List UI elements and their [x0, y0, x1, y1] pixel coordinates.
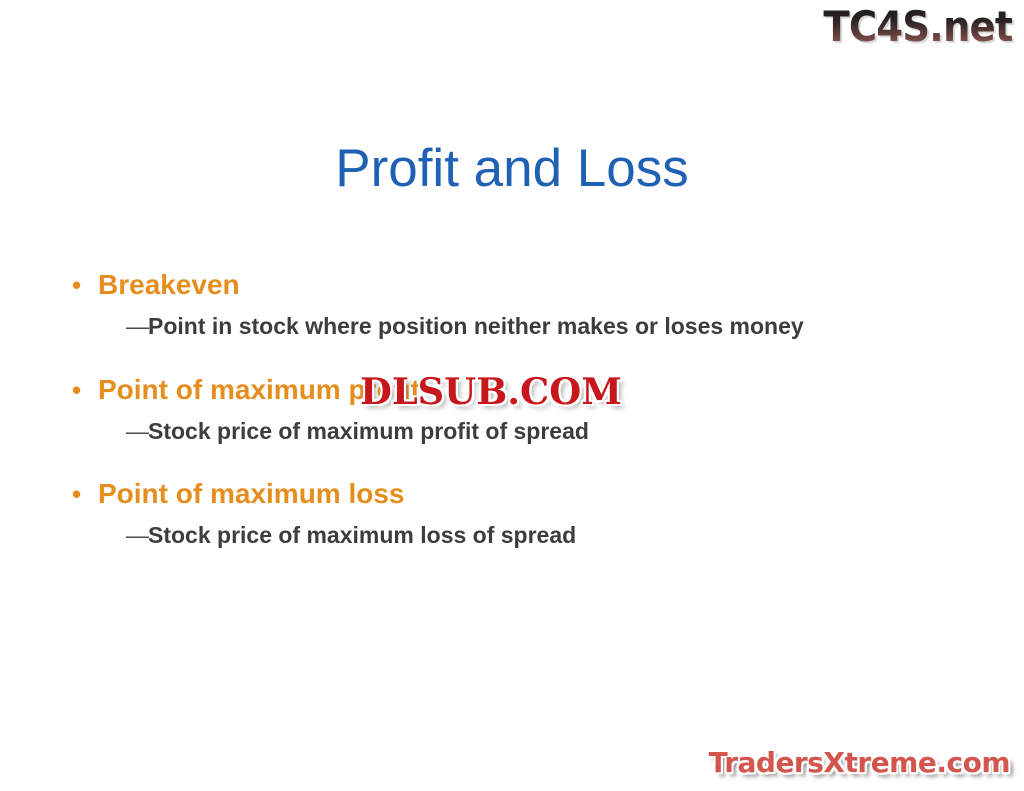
tc4s-logo: TC4S.net	[823, 2, 1012, 51]
page-title: Profit and Loss	[0, 138, 1024, 199]
dash-marker-icon: —	[126, 522, 148, 550]
dash-marker-icon: —	[126, 418, 148, 446]
bullet-dot-icon: •	[72, 377, 98, 403]
bullet-heading-3: • Point of maximum loss	[72, 477, 972, 510]
sub-bullet-1: — Point in stock where position neither …	[126, 313, 972, 341]
slide-canvas: TC4S.net TC4S.net Profit and Loss • Brea…	[0, 0, 1024, 791]
bullet-heading-1: • Breakeven	[72, 268, 972, 301]
sub-bullet-text-1: Point in stock where position neither ma…	[148, 313, 804, 341]
sub-bullet-3: — Stock price of maximum loss of spread	[126, 522, 972, 550]
dlsub-watermark: DLSUB.COM	[360, 371, 622, 413]
bullet-heading-text-1: Breakeven	[98, 268, 240, 301]
bullet-block-breakeven: • Breakeven — Point in stock where posit…	[72, 268, 972, 341]
bullet-block-max-loss: • Point of maximum loss — Stock price of…	[72, 477, 972, 550]
dash-marker-icon: —	[126, 313, 148, 341]
bullet-dot-icon: •	[72, 481, 98, 507]
sub-bullet-text-3: Stock price of maximum loss of spread	[148, 522, 576, 550]
tradersxtreme-watermark: TradersXtreme.com	[709, 746, 1010, 779]
sub-bullet-2: — Stock price of maximum profit of sprea…	[126, 418, 972, 446]
sub-bullet-text-2: Stock price of maximum profit of spread	[148, 418, 589, 446]
bullet-heading-text-3: Point of maximum loss	[98, 477, 405, 510]
bullet-dot-icon: •	[72, 272, 98, 298]
